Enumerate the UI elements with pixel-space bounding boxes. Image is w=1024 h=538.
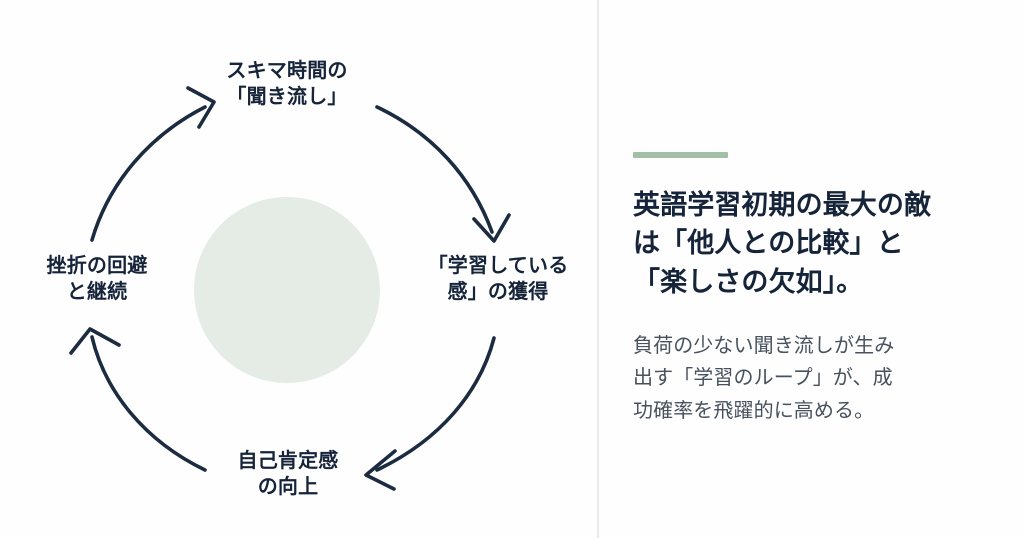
cycle-diagram: スキマ時間の 「聞き流し」 「学習している 感」の獲得 自己肯定感 の向上 挫折…: [0, 0, 597, 538]
cycle-node-label-right: 「学習している 感」の獲得: [408, 253, 588, 306]
text-panel: 英語学習初期の最大の敵 は「他人との比較」と 「楽しさの欠如」。 負荷の少ない聞…: [633, 0, 983, 538]
accent-bar: [633, 152, 728, 158]
vertical-divider: [597, 0, 599, 538]
slide-canvas: スキマ時間の 「聞き流し」 「学習している 感」の獲得 自己肯定感 の向上 挫折…: [0, 0, 1024, 538]
arrow-left-to-top-shaft: [92, 107, 205, 240]
subcopy: 負荷の少ない聞き流しが生み 出す「学習のループ」が、成 功確率を飛躍的に高める。: [633, 330, 953, 427]
center-circle: [194, 197, 380, 383]
arrow-top-to-right-shaft: [377, 107, 492, 232]
cycle-node-label-bottom: 自己肯定感 の向上: [168, 448, 408, 501]
cycle-node-label-left: 挫折の回避 と継続: [7, 253, 187, 306]
headline: 英語学習初期の最大の敵 は「他人との比較」と 「楽しさの欠如」。: [633, 186, 978, 301]
cycle-node-label-top: スキマ時間の 「聞き流し」: [167, 58, 407, 111]
